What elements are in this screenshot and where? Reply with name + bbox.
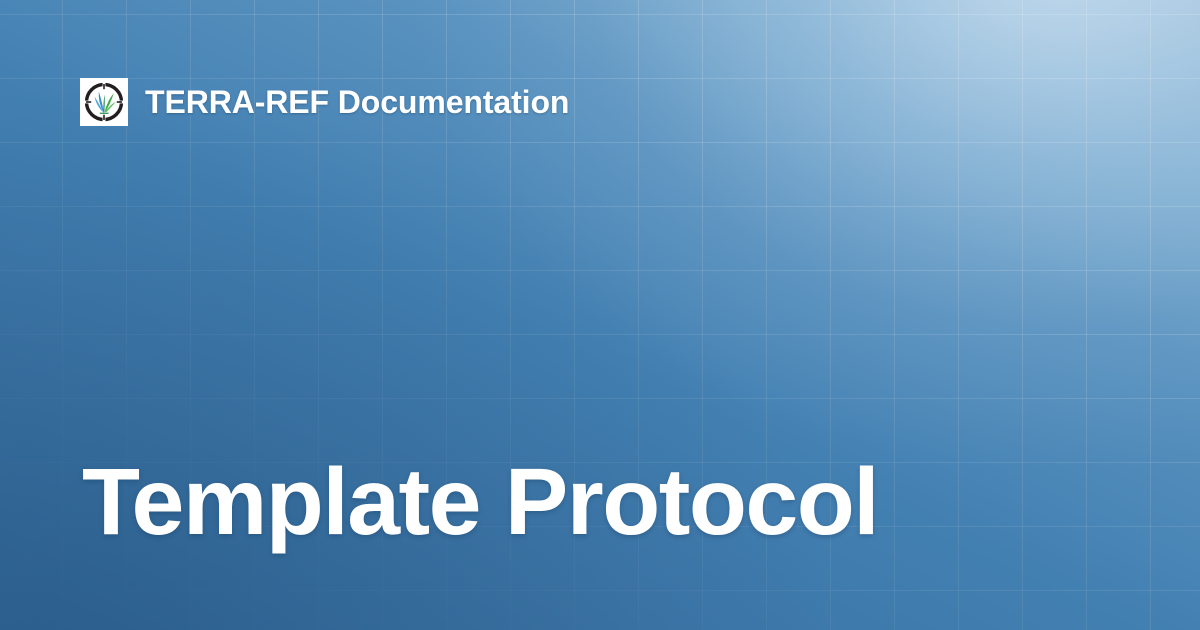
page-title: Template Protocol xyxy=(82,455,878,550)
terraref-plant-crosshair-logo-icon xyxy=(80,78,128,126)
site-title: TERRA-REF Documentation xyxy=(145,86,569,118)
site-header: TERRA-REF Documentation xyxy=(80,78,569,126)
social-preview-card: TERRA-REF Documentation Template Protoco… xyxy=(0,0,1200,630)
